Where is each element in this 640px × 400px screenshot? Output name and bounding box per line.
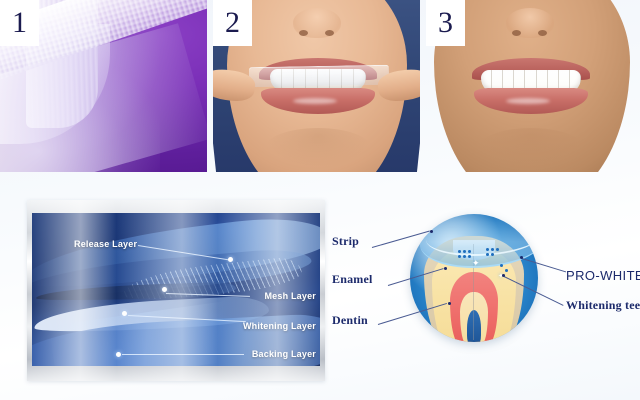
step-panel-2[interactable]: 2 [213,0,420,172]
nostril-left [512,30,521,36]
molecule-dot [500,264,503,267]
leader-line-backing [122,354,244,355]
strip-layer-diagram-panel: Release Layer Mesh Layer Whitening Layer… [27,200,325,381]
layer-label-whitening: Whitening Layer [243,321,316,331]
chin-shadow [265,128,371,168]
step-panel-1[interactable]: 1 [0,0,207,172]
tooth-cross-section-illustration: ✦ ✦ [410,214,538,342]
tooth-label-whitening-teeth: Whitening teeth [566,298,640,313]
leader-line-release [138,245,229,260]
mouth [472,58,590,112]
leader-line-mesh [166,293,250,297]
tooth-label-enamel: Enamel [332,272,373,287]
layer-diagram-stage: Release Layer Mesh Layer Whitening Layer… [32,213,320,366]
molecule-dot [468,255,471,258]
ribbon-release-layer [32,213,320,296]
tooth-diagram-area: ✦ ✦ Strip Enamel Dentin PRO-WHITE Whiten… [330,196,640,396]
layer-label-backing: Backing Layer [252,349,316,359]
leader-dot-backing [116,352,121,357]
molecule-dot [486,253,489,256]
molecule-dot [463,250,466,253]
tooth-leader-dot-dentin [448,302,451,305]
tooth-label-pro-white: PRO-WHITE [566,268,640,283]
nostril-right [325,30,334,36]
molecule-dot [491,253,494,256]
molecule-dot [486,248,489,251]
tooth-label-strip: Strip [332,234,359,249]
nostril-left [299,30,308,36]
layer-label-mesh: Mesh Layer [264,291,316,301]
lip-highlight [293,98,337,104]
leader-line-whitening [128,315,246,322]
leader-dot-release [228,257,233,262]
layer-label-release: Release Layer [74,239,137,249]
applied-whitening-strip [249,65,389,87]
tooth-leader-dot-enamel [444,267,447,270]
molecule-dot [496,248,499,251]
tooth-leader-dot-strip [430,230,433,233]
molecule-dot [458,250,461,253]
tooth-label-dentin: Dentin [332,313,368,328]
ribbon-whitening-layer [33,295,269,335]
sparkle-icon: ✦ [472,258,480,269]
step-number-badge-3: 3 [426,0,465,46]
leader-dot-mesh [162,287,167,292]
tooth-leader-dot-whitening-teeth [502,274,505,277]
molecule-dot [463,255,466,258]
leader-dot-whitening [122,311,127,316]
ribbon-dark-edge [36,282,236,303]
step-number-badge-1: 1 [0,0,39,46]
chin-shadow [478,128,584,168]
molecule-dot [505,269,508,272]
tooth-leader-dot-pro-white [520,256,523,259]
lip-highlight [506,98,550,104]
step-number-badge-2: 2 [213,0,252,46]
molecule-dot [458,255,461,258]
molecule-dot [468,250,471,253]
tooth-root-canal-shape [467,310,481,342]
nostril-right [538,30,547,36]
steps-photo-row: 1 2 [0,0,640,172]
molecule-dot [491,248,494,251]
step-panel-3[interactable]: 3 [426,0,634,172]
